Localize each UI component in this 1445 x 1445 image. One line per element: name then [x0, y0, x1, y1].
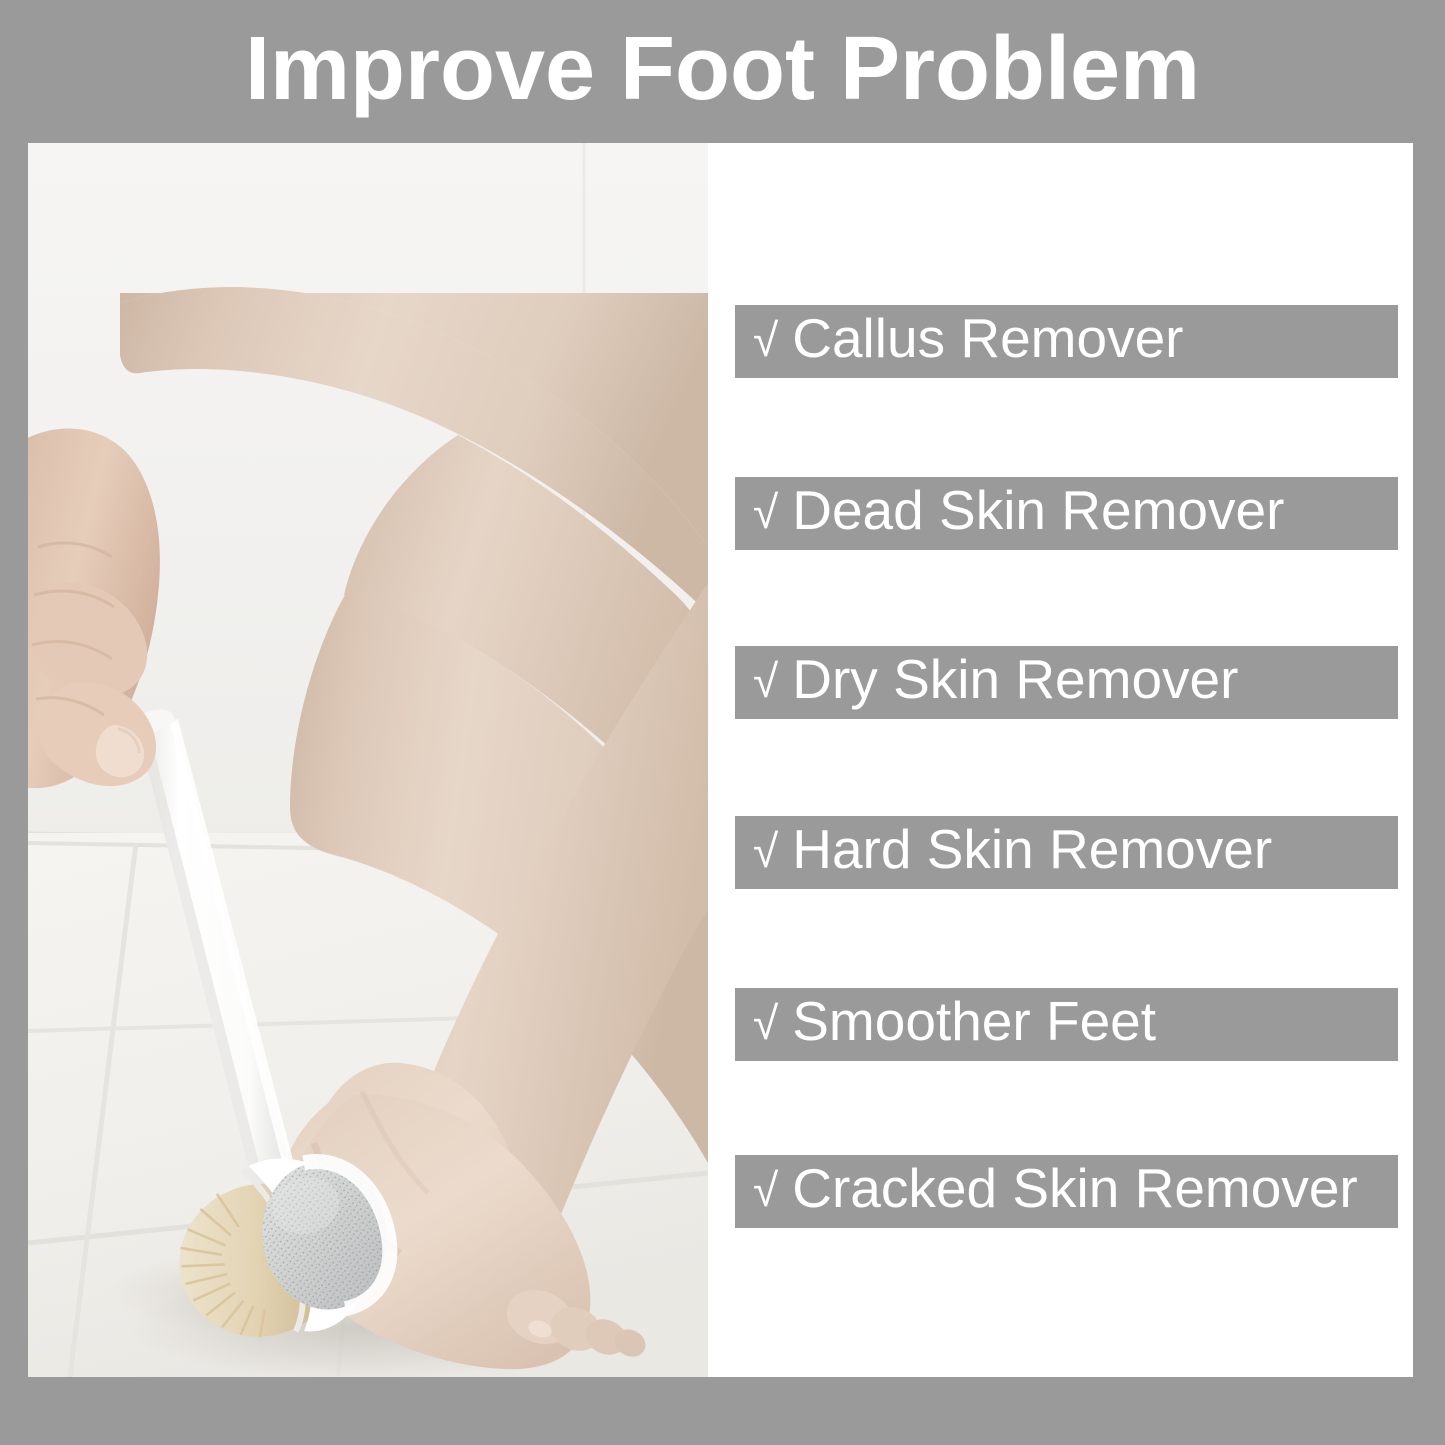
feature-label: Hard Skin Remover [792, 822, 1272, 877]
feature-label: Dead Skin Remover [792, 483, 1284, 538]
product-photo [28, 143, 708, 1377]
check-icon: √ [753, 489, 778, 535]
check-icon: √ [753, 1000, 778, 1046]
feature-item-dry-skin-remover: √ Dry Skin Remover [735, 646, 1398, 719]
content-card: √ Callus Remover √ Dead Skin Remover √ D… [28, 143, 1413, 1377]
feature-item-callus-remover: √ Callus Remover [735, 305, 1398, 378]
feature-label: Dry Skin Remover [792, 652, 1238, 707]
feature-label: Cracked Skin Remover [792, 1161, 1357, 1216]
check-icon: √ [753, 828, 778, 874]
check-icon: √ [753, 317, 778, 363]
feature-label: Smoother Feet [792, 994, 1156, 1049]
feature-item-dead-skin-remover: √ Dead Skin Remover [735, 477, 1398, 550]
check-icon: √ [753, 1167, 778, 1213]
poster-title-band: Improve Foot Problem [0, 0, 1445, 143]
page-title: Improve Foot Problem [245, 24, 1200, 120]
check-icon: √ [753, 658, 778, 704]
feature-item-smoother-feet: √ Smoother Feet [735, 988, 1398, 1061]
feature-item-hard-skin-remover: √ Hard Skin Remover [735, 816, 1398, 889]
feature-label: Callus Remover [792, 311, 1183, 366]
feature-item-cracked-skin-remover: √ Cracked Skin Remover [735, 1155, 1398, 1228]
feature-list: √ Callus Remover √ Dead Skin Remover √ D… [708, 143, 1413, 1377]
product-photo-illustration [28, 143, 708, 1377]
product-feature-poster: Improve Foot Problem [0, 0, 1445, 1445]
